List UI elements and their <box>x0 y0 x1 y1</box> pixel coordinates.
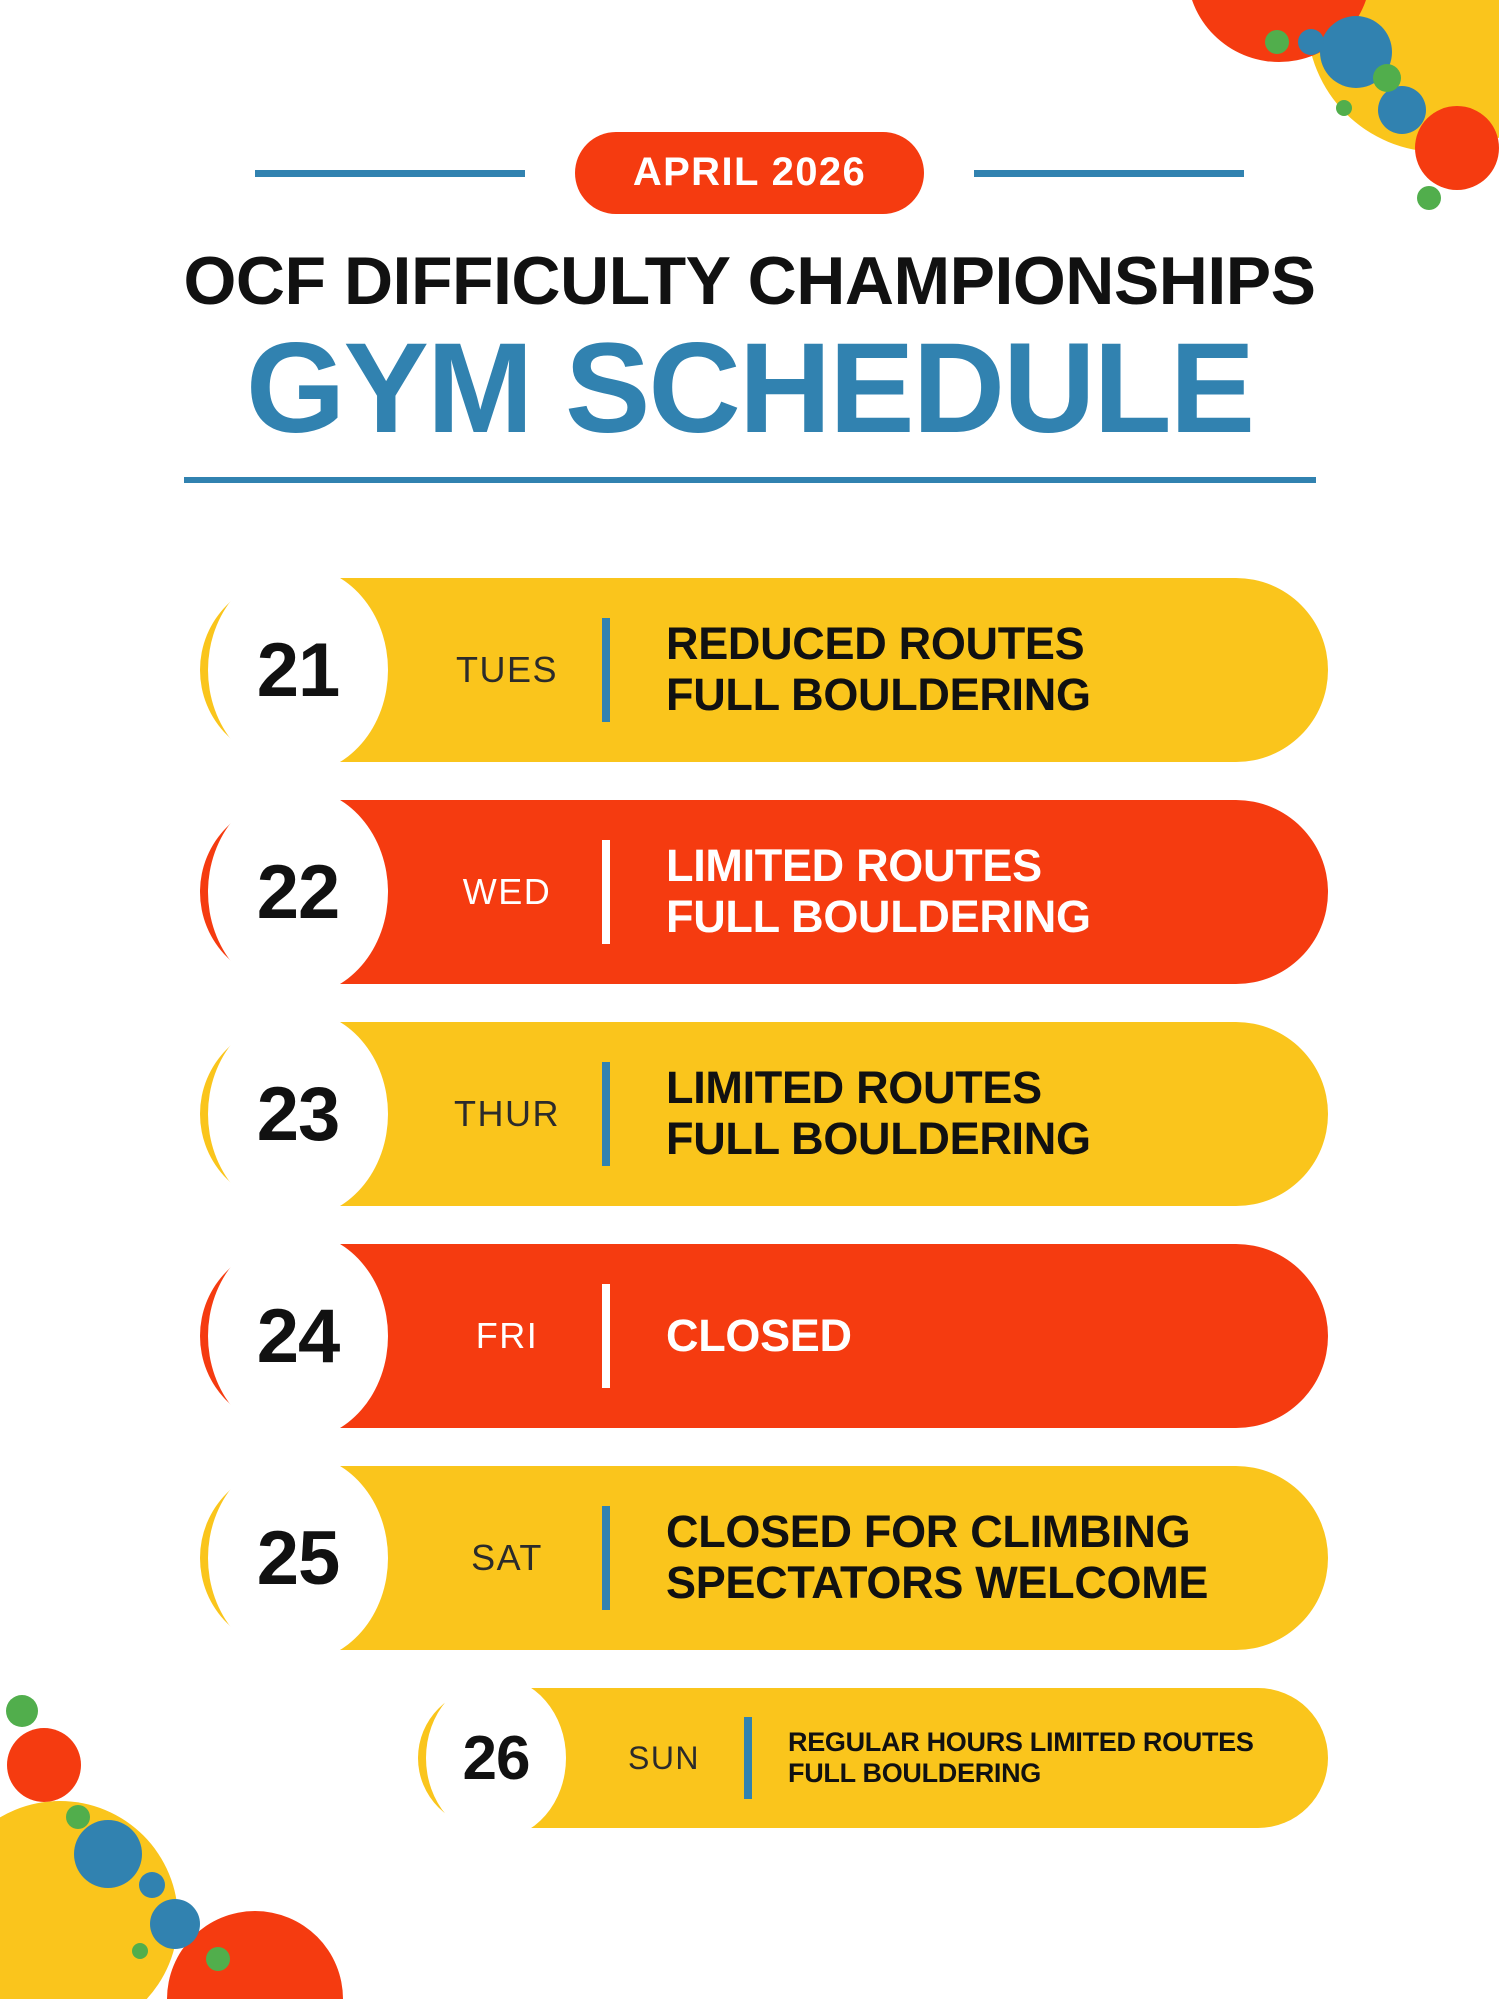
description-line-2: FULL BOULDERING <box>666 892 1091 943</box>
schedule-description: REGULAR HOURS LIMITED ROUTESFULL BOULDER… <box>788 1727 1254 1789</box>
description-line-2: FULL BOULDERING <box>666 670 1091 721</box>
description-line-2: SPECTATORS WELCOME <box>666 1558 1208 1609</box>
row-divider <box>602 1506 610 1610</box>
event-title: OCF DIFFICULTY CHAMPIONSHIPS <box>0 246 1499 317</box>
row-divider <box>602 618 610 722</box>
date-circle: 24 <box>208 1232 388 1440</box>
rule-left <box>255 170 525 177</box>
day-label: SAT <box>422 1537 592 1579</box>
date-circle: 25 <box>208 1454 388 1662</box>
schedule-row[interactable]: 25SATCLOSED FOR CLIMBINGSPECTATORS WELCO… <box>200 1466 1328 1650</box>
date-circle: 22 <box>208 788 388 996</box>
day-label: THUR <box>422 1093 592 1135</box>
schedule-row[interactable]: 21TUESREDUCED ROUTESFULL BOULDERING <box>200 578 1328 762</box>
row-divider <box>602 840 610 944</box>
description-line-1: REDUCED ROUTES <box>666 618 1084 669</box>
poster-header: APRIL 2026 OCF DIFFICULTY CHAMPIONSHIPS … <box>0 0 1499 483</box>
row-divider <box>744 1717 752 1799</box>
day-label: SUN <box>594 1740 734 1777</box>
schedule-row[interactable]: 24FRICLOSED <box>200 1244 1328 1428</box>
schedule-description: LIMITED ROUTESFULL BOULDERING <box>666 1063 1091 1165</box>
day-label: WED <box>422 871 592 913</box>
description-line-1: CLOSED <box>666 1310 852 1361</box>
description-line-1: LIMITED ROUTES <box>666 840 1042 891</box>
day-label: TUES <box>422 649 592 691</box>
description-line-1: REGULAR HOURS LIMITED ROUTES <box>788 1727 1254 1757</box>
date-circle: 26 <box>426 1677 566 1839</box>
schedule-row[interactable]: 26SUNREGULAR HOURS LIMITED ROUTESFULL BO… <box>418 1688 1328 1828</box>
date-circle: 23 <box>208 1010 388 1218</box>
description-line-1: LIMITED ROUTES <box>666 1062 1042 1113</box>
row-divider <box>602 1284 610 1388</box>
page-title: GYM SCHEDULE <box>0 325 1499 453</box>
description-line-2: FULL BOULDERING <box>788 1758 1254 1789</box>
row-divider <box>602 1062 610 1166</box>
schedule-list: 21TUESREDUCED ROUTESFULL BOULDERING22WED… <box>0 578 1499 1866</box>
schedule-row[interactable]: 22WEDLIMITED ROUTESFULL BOULDERING <box>200 800 1328 984</box>
schedule-description: CLOSED FOR CLIMBINGSPECTATORS WELCOME <box>666 1507 1208 1609</box>
badge-row: APRIL 2026 <box>0 132 1499 214</box>
schedule-description: CLOSED <box>666 1311 852 1362</box>
description-line-2: FULL BOULDERING <box>666 1114 1091 1165</box>
date-circle: 21 <box>208 566 388 774</box>
schedule-description: LIMITED ROUTESFULL BOULDERING <box>666 841 1091 943</box>
schedule-row[interactable]: 23THURLIMITED ROUTESFULL BOULDERING <box>200 1022 1328 1206</box>
description-line-1: CLOSED FOR CLIMBING <box>666 1506 1190 1557</box>
day-label: FRI <box>422 1315 592 1357</box>
schedule-description: REDUCED ROUTESFULL BOULDERING <box>666 619 1091 721</box>
title-underline <box>184 477 1316 483</box>
rule-right <box>974 170 1244 177</box>
month-badge: APRIL 2026 <box>575 132 924 214</box>
